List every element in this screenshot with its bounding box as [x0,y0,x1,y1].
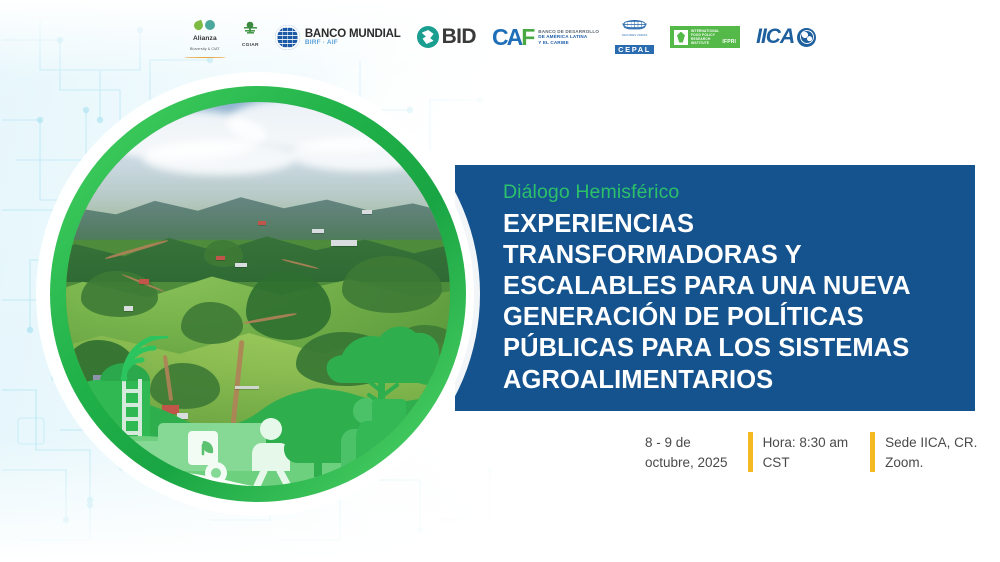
logo-caf: CAF BANCO DE DESARROLLO DE AMÉRICA LATIN… [492,20,599,54]
wifi-dot-icon [314,416,324,426]
iica-name: IICA [756,25,794,49]
rural-landscape-photo [66,102,450,486]
alianza-leaf-globe-icon [194,20,215,30]
logo-alianza-bioversity-ciat: Alianza Bioversity & CIAT [184,20,226,54]
world-bank-name: BANCO MUNDIAL [305,28,401,40]
logo-world-bank: BANCO MUNDIAL BIRF · AIF [275,20,401,54]
cgiar-plant-icon [242,20,258,38]
world-bank-globe-icon [275,25,300,50]
event-details: 8 - 9 de octubre, 2025 Hora: 8:30 am CST… [645,432,977,472]
event-time-text: Hora: 8:30 am CST [763,432,871,472]
divider-bar-time [748,432,753,472]
event-time: Hora: 8:30 am CST [748,432,871,472]
bid-americas-icon [417,26,439,48]
event-headline: EXPERIENCIAS TRANSFORMADORAS Y ESCALABLE… [503,209,969,396]
divider-bar-venue [870,432,875,472]
ifpri-line-4: INSTITUTE [691,41,719,45]
event-kicker: Diálogo Hemisférico [503,181,679,204]
title-panel: Diálogo Hemisférico EXPERIENCIAS TRANSFO… [455,165,975,411]
event-dates-text: 8 - 9 de octubre, 2025 [645,432,748,472]
logo-bid: BID [417,20,476,54]
world-bank-subtitle: BIRF · AIF [305,40,401,47]
event-venue-text: Sede IICA, CR. Zoom. [885,432,977,472]
bid-name: BID [442,25,476,49]
ifpri-leaf-icon [674,30,688,45]
alianza-subtitle: Bioversity & CIAT [190,48,220,52]
cepal-name: CEPAL [615,45,654,55]
logo-ifpri: INTERNATIONAL FOOD POLICY RESEARCH INSTI… [670,26,740,48]
partner-logo-bar: Alianza Bioversity & CIAT CGIAR BANCO MU… [0,16,1000,58]
logo-iica: IICA [756,20,816,54]
event-poster: Alianza Bioversity & CIAT CGIAR BANCO MU… [0,0,1000,562]
united-nations-emblem-icon [623,20,646,29]
caf-wordmark-icon: CAF [492,24,533,51]
event-venue: Sede IICA, CR. Zoom. [870,432,977,472]
wifi-signal-icon-photo [116,336,176,382]
logo-cepal: NACIONES UNIDAS CEPAL [615,20,654,54]
cepal-tagline: NACIONES UNIDAS [622,35,648,38]
iica-globe-icon [797,28,816,47]
cgiar-name: CGIAR [242,44,259,49]
event-dates: 8 - 9 de octubre, 2025 [645,432,748,472]
ifpri-name: IFPRI [722,39,736,45]
hero-photo-circle [42,78,474,510]
logo-cgiar: CGIAR [242,20,259,54]
alianza-name: Alianza [193,36,217,43]
caf-line-3: Y EL CARIBE [538,40,599,45]
